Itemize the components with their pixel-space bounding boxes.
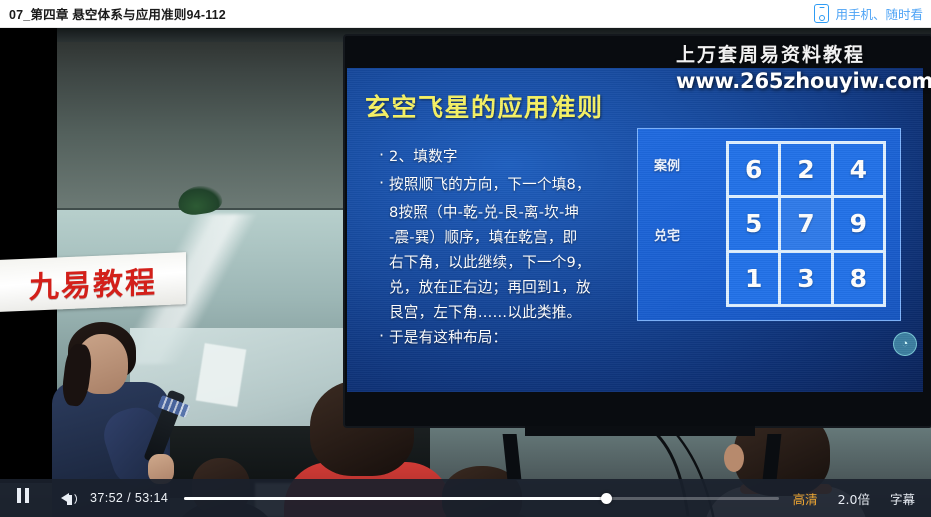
grid-cell: 6 <box>729 144 778 195</box>
magic-square-grid: 6 2 4 5 7 9 1 3 8 <box>726 141 886 307</box>
subtitle-toggle[interactable]: 字幕 <box>890 489 915 508</box>
panel-label-top: 案例 <box>654 155 680 174</box>
current-time: 37:52 <box>90 491 123 505</box>
quality-selector[interactable]: 高清 <box>793 489 818 508</box>
progress-played <box>184 497 606 500</box>
slide-bullet: 于是有这种布局： <box>379 325 647 350</box>
page-title: 07_第四章 悬空体系与应用准则94-112 <box>9 4 226 23</box>
player-control-bar: 37:52 / 53:14 高清 2.0倍 字幕 <box>0 479 931 517</box>
mobile-phone-icon <box>814 4 829 23</box>
total-time: 53:14 <box>135 491 168 505</box>
slide-surface: 玄空飞星的应用准则 2、填数字 按照顺飞的方向，下一个填8， 8按照（中-乾-兑… <box>347 68 923 392</box>
grid-cell: 2 <box>781 144 830 195</box>
slide-bullet-continuation: 8按照（中-乾-兑-艮-离-坎-坤 <box>379 200 647 225</box>
grid-cell: 1 <box>729 253 778 304</box>
whiteboard-paper <box>196 343 247 407</box>
presentation-screen: 玄空飞星的应用准则 2、填数字 按照顺飞的方向，下一个填8， 8按照（中-乾-兑… <box>345 36 931 426</box>
grid-cell: 9 <box>834 198 883 249</box>
pause-icon <box>15 488 31 508</box>
slide-bullet: 按照顺飞的方向，下一个填8， <box>379 172 647 197</box>
slide-bullet-continuation: -震-巽）顺序，填在乾宫，即 <box>379 225 647 250</box>
promo-text: 用手机、随时看 <box>835 4 923 23</box>
progress-handle[interactable] <box>601 493 612 504</box>
grid-cell: 7 <box>781 198 830 249</box>
volume-button[interactable] <box>46 479 84 517</box>
speed-selector[interactable]: 2.0倍 <box>838 489 870 508</box>
time-display: 37:52 / 53:14 <box>90 491 168 505</box>
control-bar-right: 高清 2.0倍 字幕 <box>793 489 931 508</box>
magic-square-panel: 案例 兑宅 6 2 4 5 7 9 1 3 8 <box>637 128 901 321</box>
slide-title: 玄空飞星的应用准则 <box>365 88 665 124</box>
grid-cell: 4 <box>834 144 883 195</box>
screen-stand <box>525 426 755 436</box>
magic-square-labels: 案例 兑宅 <box>650 147 716 297</box>
time-separator: / <box>127 491 131 505</box>
top-bar-promo[interactable]: 用手机、随时看 <box>814 4 923 23</box>
slide-bullet: 2、填数字 <box>379 144 647 169</box>
slide-bullet-continuation: 兑，放在正右边；再回到1，放 <box>379 275 647 300</box>
video-player-page: 07_第四章 悬空体系与应用准则94-112 用手机、随时看 九易教程 <box>0 0 931 517</box>
slide-bullet-continuation: 右下角，以此继续，下一个9， <box>379 250 647 275</box>
video-stage[interactable]: 九易教程 <box>0 28 931 517</box>
grid-cell: 8 <box>834 253 883 304</box>
slide-body: 2、填数字 按照顺飞的方向，下一个填8， 8按照（中-乾-兑-艮-离-坎-坤 -… <box>379 144 647 353</box>
letterbox-pillar-left <box>0 28 57 483</box>
circle-logo-icon: ◔ <box>893 332 917 356</box>
top-bar: 07_第四章 悬空体系与应用准则94-112 用手机、随时看 <box>0 0 931 28</box>
course-banner-text: 九易教程 <box>29 257 157 306</box>
grid-cell: 5 <box>729 198 778 249</box>
volume-wave-icon <box>68 492 77 506</box>
slide-bullet-continuation: 艮宫，左下角……以此类推。 <box>379 300 647 325</box>
panel-label-bottom: 兑宅 <box>654 225 680 244</box>
progress-bar[interactable] <box>184 479 778 517</box>
pause-button[interactable] <box>0 479 46 517</box>
grid-cell: 3 <box>781 253 830 304</box>
course-banner: 九易教程 <box>0 252 186 312</box>
